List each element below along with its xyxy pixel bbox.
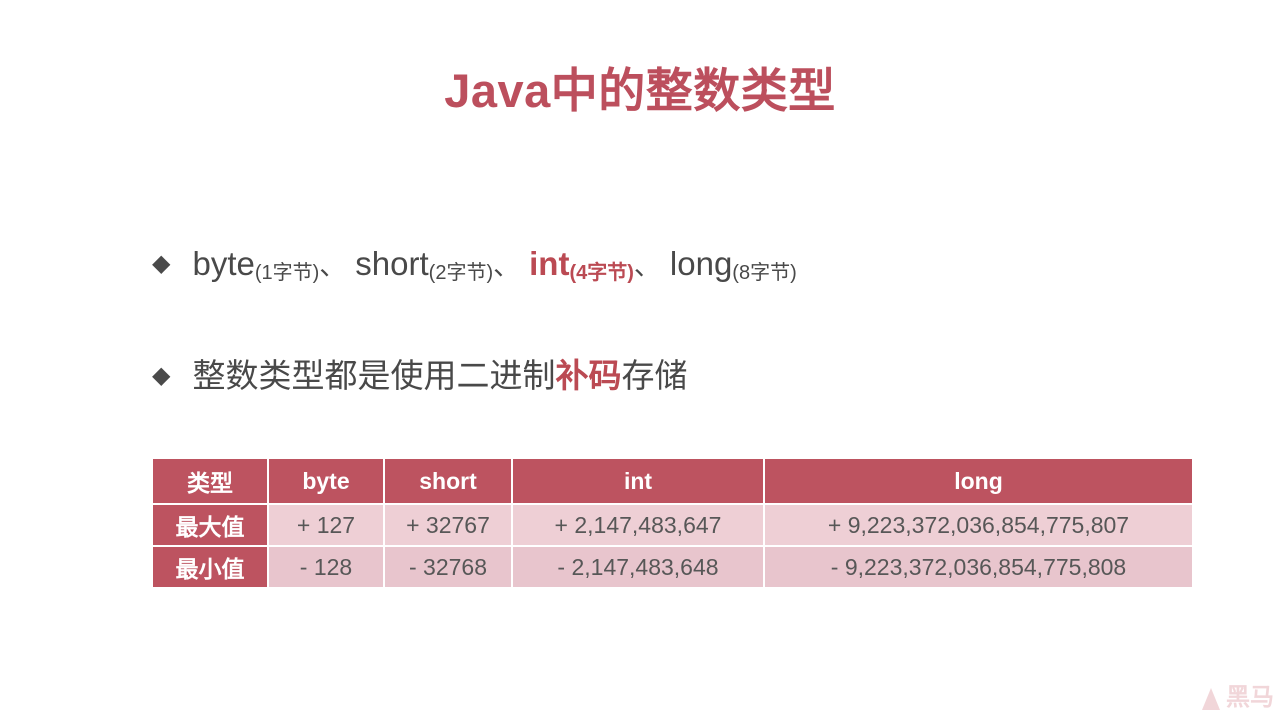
- type-size-long: (8字节): [732, 262, 796, 284]
- type-size-int: (4字节): [569, 262, 633, 284]
- storage-text-suffix: 存储: [621, 357, 687, 394]
- cell-max-short: + 32767: [385, 505, 511, 545]
- table-row: 最小值 - 128 - 32768 - 2,147,483,648 - 9,22…: [153, 547, 1192, 587]
- col-header-long: long: [765, 459, 1192, 503]
- col-header-int: int: [513, 459, 763, 503]
- diamond-bullet-icon: ◆: [152, 364, 170, 388]
- table-header: 类型 byte short int long: [153, 459, 1192, 503]
- storage-text-highlight: 补码: [555, 357, 621, 394]
- watermark: 黑马: [1202, 686, 1274, 710]
- storage-text-prefix: 整数类型都是使用二进制: [192, 357, 555, 394]
- table-body: 最大值 + 127 + 32767 + 2,147,483,647 + 9,22…: [153, 505, 1192, 587]
- bullet-item-storage-label: 整数类型都是使用二进制补码存储: [192, 356, 687, 396]
- bullet-item-storage: ◆ 整数类型都是使用二进制补码存储: [152, 356, 687, 396]
- type-name-short: short: [355, 245, 428, 282]
- table-header-row: 类型 byte short int long: [153, 459, 1192, 503]
- watermark-logo-icon: [1202, 688, 1220, 710]
- row-header-min: 最小值: [153, 547, 267, 587]
- cell-max-int: + 2,147,483,647: [513, 505, 763, 545]
- col-header-short: short: [385, 459, 511, 503]
- bullet-item-types: ◆ byte(1字节)、short(2字节)、int(4字节)、long(8字节…: [152, 244, 797, 284]
- cell-min-byte: - 128: [269, 547, 383, 587]
- type-name-byte: byte: [192, 245, 254, 282]
- cell-min-short: - 32768: [385, 547, 511, 587]
- list-separator-2: 、: [493, 251, 520, 281]
- table-row: 最大值 + 127 + 32767 + 2,147,483,647 + 9,22…: [153, 505, 1192, 545]
- type-name-int: int: [529, 245, 569, 282]
- cell-min-int: - 2,147,483,648: [513, 547, 763, 587]
- cell-min-long: - 9,223,372,036,854,775,808: [765, 547, 1192, 587]
- list-separator-1: 、: [319, 251, 346, 281]
- row-header-max: 最大值: [153, 505, 267, 545]
- type-name-long: long: [670, 245, 732, 282]
- list-separator-3: 、: [634, 251, 661, 281]
- watermark-label: 黑马: [1226, 686, 1274, 710]
- page-title: Java中的整数类型: [0, 62, 1280, 121]
- cell-max-long: + 9,223,372,036,854,775,807: [765, 505, 1192, 545]
- col-header-byte: byte: [269, 459, 383, 503]
- type-size-short: (2字节): [429, 262, 493, 284]
- integer-ranges-table: 类型 byte short int long 最大值 + 127 + 32767…: [151, 457, 1194, 589]
- cell-max-byte: + 127: [269, 505, 383, 545]
- col-header-type: 类型: [153, 459, 267, 503]
- type-size-byte: (1字节): [255, 262, 319, 284]
- bullet-item-types-label: byte(1字节)、short(2字节)、int(4字节)、long(8字节): [192, 244, 796, 284]
- diamond-bullet-icon: ◆: [152, 252, 170, 276]
